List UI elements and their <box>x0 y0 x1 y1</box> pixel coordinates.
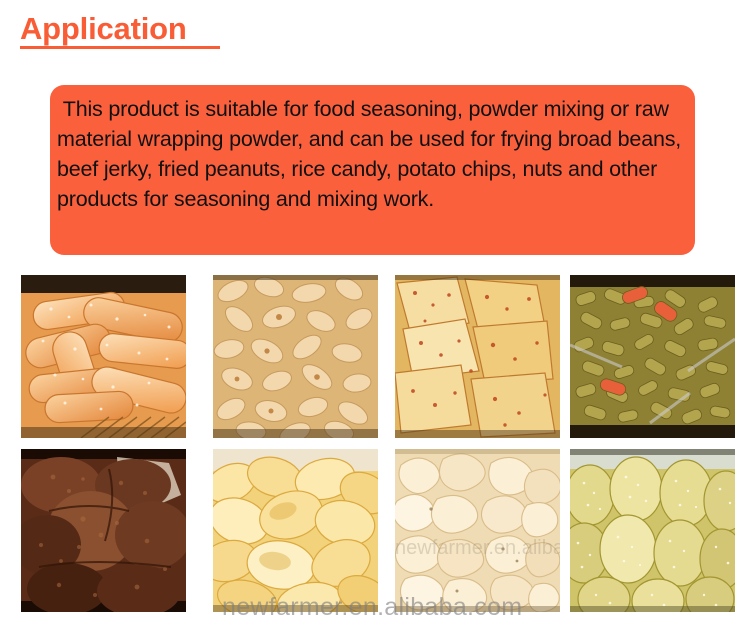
peanuts-art <box>213 275 378 438</box>
photo-beef-jerky[interactable] <box>21 449 186 612</box>
title-underline-rule <box>20 46 220 49</box>
cashews-art <box>395 449 560 612</box>
jerky-art <box>21 449 186 612</box>
beef-jerky-image <box>21 449 186 612</box>
photo-row: newfarmer.en.alibaba.com <box>0 275 750 438</box>
photo-cashew-nuts[interactable]: newfarmer.en.alibaba.com <box>395 449 560 612</box>
fried-dough-sticks-image <box>21 275 186 438</box>
seasoned-potato-chips-image <box>395 275 560 438</box>
page-title: Application <box>20 10 187 48</box>
photo-fried-dough-sticks[interactable] <box>21 275 186 438</box>
cashew-nuts-image <box>395 449 560 612</box>
pellets-art <box>570 275 735 438</box>
photo-fried-peanuts[interactable] <box>213 275 378 438</box>
photo-seasoned-potato-chips[interactable] <box>395 275 560 438</box>
photo-coated-snack-pellets[interactable] <box>570 275 735 438</box>
sesame-balls-image <box>570 449 735 612</box>
coated-snack-pellets-image <box>570 275 735 438</box>
photo-potato-crisps[interactable] <box>213 449 378 612</box>
crisps-art <box>213 449 378 612</box>
description-text: This product is suitable for food season… <box>57 94 717 214</box>
potato-crisps-image <box>213 449 378 612</box>
chips-art <box>395 275 560 438</box>
fritters-art <box>21 275 186 438</box>
photo-sesame-balls[interactable] <box>570 449 735 612</box>
photo-row: newfarmer.en.alibaba.com <box>0 449 750 612</box>
fried-peanuts-image <box>213 275 378 438</box>
sesame-balls-art <box>570 449 735 612</box>
application-photo-grid: newfarmer.en.alibaba.com <box>0 275 750 623</box>
